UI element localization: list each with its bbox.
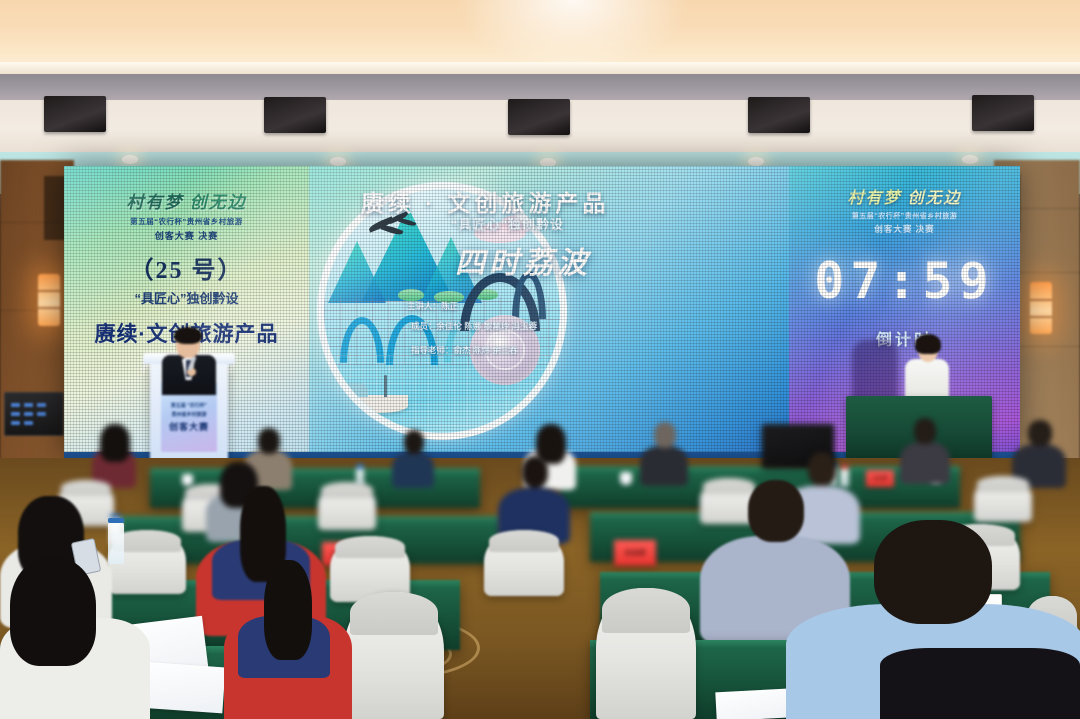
audience-member xyxy=(224,560,352,719)
brand-script-left: 村有梦 xyxy=(847,190,901,207)
name-card: 大众评 xyxy=(866,470,894,487)
judge-at-table xyxy=(905,338,949,400)
brand-script-right: 创无边 xyxy=(908,190,962,207)
podium-sign-line2: 贵州省乡村旅游 xyxy=(171,411,206,418)
ceiling-vent xyxy=(44,96,106,132)
ceiling-vent xyxy=(748,97,810,133)
presenter-credit: 主讲人：陈正 xyxy=(407,300,458,312)
ceiling-vent xyxy=(508,99,570,135)
ceiling-downlight-icon xyxy=(122,155,138,164)
brand-subline-1: 第五届“农行杯”贵州省乡村旅游 xyxy=(64,216,309,227)
brand-subline-2: 创客大赛 决赛 xyxy=(789,223,1020,235)
brand-script-left: 村有梦 xyxy=(126,193,183,212)
ceiling-cove-lip xyxy=(0,62,1080,74)
ceiling-vent xyxy=(264,97,326,133)
ceiling-soffit-band xyxy=(0,74,1080,100)
av-mixer-rack xyxy=(4,392,64,436)
ceiling-downlight-icon xyxy=(330,157,346,166)
teacup xyxy=(620,472,632,485)
chair xyxy=(344,592,444,719)
left-panel-subtitle: “具匠心”独创黔设 xyxy=(64,288,309,307)
audience-member xyxy=(92,424,136,486)
wall-sconce-icon xyxy=(38,274,60,326)
ceiling-downlight-icon xyxy=(748,157,764,166)
presentation-subtitle: “具匠心”独创黔设 xyxy=(451,214,564,233)
podium-sign-line3: 创客大赛 xyxy=(169,420,209,433)
audience-member xyxy=(498,456,570,542)
judge-shadow xyxy=(852,340,898,402)
ceiling-downlight-icon xyxy=(962,155,978,164)
audience-member xyxy=(392,430,434,486)
audience-member xyxy=(900,418,950,482)
advisors-credit: 指导老师：俞杰 陈炜 余三吞 xyxy=(411,344,518,356)
presenting-contestant xyxy=(160,330,218,388)
contestant-number-badge: （25 号） xyxy=(64,250,309,285)
presentation-title: 赓续 · 文创旅游产品 xyxy=(361,184,609,218)
wooden-boat-icon xyxy=(334,395,408,413)
podium-sign-line1: 第五届 “农行杯” xyxy=(171,402,207,409)
led-panel-center: 赓续 · 文创旅游产品 “具匠心”独创黔设 四时荔波 主讲人：陈正 成员：余佳伦… xyxy=(309,166,789,458)
audience-member xyxy=(640,422,688,484)
countdown-timer: 07:59 xyxy=(789,252,1020,310)
left-wall xyxy=(0,160,74,490)
audience-member xyxy=(0,558,150,719)
ceiling-vent xyxy=(972,95,1034,131)
audience-member xyxy=(880,648,1080,719)
presentation-calligraphy: 四时荔波 xyxy=(455,238,591,282)
brand-subline-1: 第五届“农行杯”贵州省乡村旅游 xyxy=(789,211,1020,221)
name-card: 大众评 xyxy=(614,540,656,566)
brand-subline-2: 创客大赛 决赛 xyxy=(64,229,309,242)
teacup xyxy=(182,474,193,486)
chair xyxy=(318,482,376,530)
audience-member xyxy=(1012,420,1066,486)
conference-hall-photo: 村有梦 创无边 第五届“农行杯”贵州省乡村旅游 创客大赛 决赛 （25 号） “… xyxy=(0,0,1080,719)
chair xyxy=(596,588,696,719)
chair xyxy=(484,530,564,596)
members-credit: 成员：余佳伦 陈娜 黎慧玲 冯玉蓉 xyxy=(411,320,537,332)
wall-sconce-icon xyxy=(1030,282,1052,334)
chair xyxy=(974,476,1032,522)
brand-script-right: 创无边 xyxy=(190,193,247,212)
